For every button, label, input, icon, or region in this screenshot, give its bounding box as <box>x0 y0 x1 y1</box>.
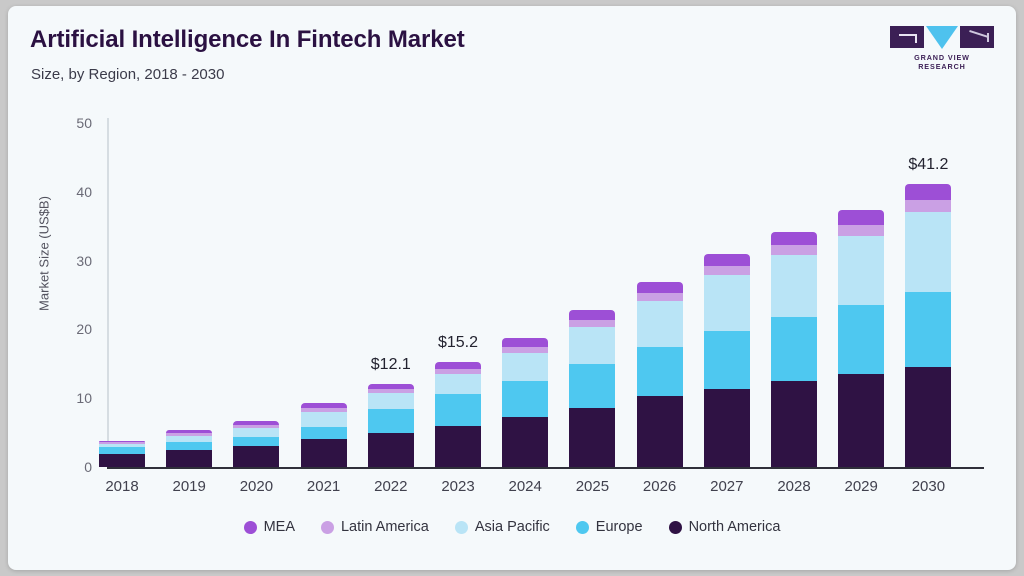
bar-2018[interactable] <box>99 6 145 467</box>
legend-swatch-icon <box>455 521 468 534</box>
bar-2026[interactable] <box>637 6 683 467</box>
bar-segment-2018-europe[interactable] <box>99 447 145 454</box>
y-axis-tick-40: 40 <box>54 184 92 200</box>
bar-segment-2028-latin-america[interactable] <box>771 245 817 255</box>
bar-segment-2018-latin-america[interactable] <box>99 442 145 443</box>
bar-segment-2021-mea[interactable] <box>301 403 347 408</box>
bar-2025[interactable] <box>569 6 615 467</box>
bar-segment-2020-north-america[interactable] <box>233 446 279 467</box>
bar-segment-2023-north-america[interactable] <box>435 426 481 467</box>
bar-segment-2027-latin-america[interactable] <box>704 266 750 275</box>
legend-item-mea[interactable]: MEA <box>244 519 295 535</box>
legend-label: MEA <box>264 519 295 535</box>
bar-segment-2022-latin-america[interactable] <box>368 389 414 393</box>
legend-label: Latin America <box>341 519 429 535</box>
bar-segment-2027-asia-pacific[interactable] <box>704 275 750 331</box>
bar-2029[interactable] <box>838 6 884 467</box>
bar-segment-2030-latin-america[interactable] <box>905 200 951 212</box>
bar-2030[interactable] <box>905 6 951 467</box>
bar-segment-2020-latin-america[interactable] <box>233 425 279 428</box>
bar-2022[interactable] <box>368 6 414 467</box>
bar-segment-2018-mea[interactable] <box>99 441 145 442</box>
bar-segment-2019-asia-pacific[interactable] <box>166 436 212 442</box>
legend-item-north-america[interactable]: North America <box>669 519 781 535</box>
bar-segment-2027-mea[interactable] <box>704 254 750 266</box>
legend-item-asia-pacific[interactable]: Asia Pacific <box>455 519 550 535</box>
legend-swatch-icon <box>244 521 257 534</box>
bar-segment-2025-latin-america[interactable] <box>569 320 615 327</box>
bar-segment-2023-mea[interactable] <box>435 362 481 369</box>
bar-segment-2028-north-america[interactable] <box>771 381 817 467</box>
x-axis-label-2023: 2023 <box>423 478 493 495</box>
legend-swatch-icon <box>669 521 682 534</box>
x-axis-label-2028: 2028 <box>759 478 829 495</box>
y-axis-title: Market Size (US$B) <box>37 174 52 334</box>
bar-chart-plot: Market Size (US$B) 010203040502018201920… <box>8 6 1016 570</box>
bar-segment-2023-latin-america[interactable] <box>435 369 481 374</box>
x-axis-label-2026: 2026 <box>625 478 695 495</box>
x-axis-line <box>107 467 984 469</box>
bar-segment-2028-mea[interactable] <box>771 232 817 245</box>
legend-label: Europe <box>596 519 643 535</box>
bar-segment-2020-mea[interactable] <box>233 421 279 425</box>
bar-segment-2029-europe[interactable] <box>838 305 884 374</box>
bar-segment-2026-latin-america[interactable] <box>637 293 683 301</box>
bar-segment-2021-asia-pacific[interactable] <box>301 412 347 427</box>
bar-value-label-2022: $12.1 <box>346 356 436 374</box>
bar-segment-2023-europe[interactable] <box>435 394 481 426</box>
bar-segment-2026-mea[interactable] <box>637 282 683 293</box>
bar-segment-2024-north-america[interactable] <box>502 417 548 467</box>
bar-2024[interactable] <box>502 6 548 467</box>
x-axis-label-2019: 2019 <box>154 478 224 495</box>
bar-segment-2022-asia-pacific[interactable] <box>368 393 414 410</box>
bar-segment-2026-north-america[interactable] <box>637 396 683 467</box>
x-axis-label-2030: 2030 <box>893 478 963 495</box>
bar-segment-2028-europe[interactable] <box>771 317 817 381</box>
bar-segment-2022-europe[interactable] <box>368 409 414 432</box>
bar-segment-2021-north-america[interactable] <box>301 439 347 467</box>
bar-segment-2030-europe[interactable] <box>905 292 951 367</box>
bar-segment-2022-north-america[interactable] <box>368 433 414 467</box>
bar-segment-2020-asia-pacific[interactable] <box>233 428 279 436</box>
chart-card: Artificial Intelligence In Fintech Marke… <box>8 6 1016 570</box>
bar-2019[interactable] <box>166 6 212 467</box>
x-axis-label-2027: 2027 <box>692 478 762 495</box>
legend-item-europe[interactable]: Europe <box>576 519 643 535</box>
y-axis-tick-20: 20 <box>54 321 92 337</box>
bar-segment-2029-mea[interactable] <box>838 210 884 224</box>
bar-2020[interactable] <box>233 6 279 467</box>
x-axis-label-2025: 2025 <box>557 478 627 495</box>
legend-swatch-icon <box>576 521 589 534</box>
bar-segment-2019-north-america[interactable] <box>166 450 212 467</box>
legend-item-latin-america[interactable]: Latin America <box>321 519 429 535</box>
bar-segment-2029-asia-pacific[interactable] <box>838 236 884 305</box>
x-axis-label-2022: 2022 <box>356 478 426 495</box>
bar-segment-2026-europe[interactable] <box>637 347 683 397</box>
x-axis-label-2020: 2020 <box>221 478 291 495</box>
bar-segment-2029-north-america[interactable] <box>838 374 884 467</box>
bar-segment-2029-latin-america[interactable] <box>838 225 884 236</box>
bar-value-label-2023: $15.2 <box>413 334 503 352</box>
bar-2023[interactable] <box>435 6 481 467</box>
bar-segment-2025-asia-pacific[interactable] <box>569 327 615 364</box>
x-axis-label-2018: 2018 <box>87 478 157 495</box>
bar-2028[interactable] <box>771 6 817 467</box>
y-axis-tick-50: 50 <box>54 115 92 131</box>
bar-segment-2021-europe[interactable] <box>301 427 347 439</box>
bar-segment-2018-north-america[interactable] <box>99 454 145 467</box>
bar-2021[interactable] <box>301 6 347 467</box>
y-axis-tick-30: 30 <box>54 253 92 269</box>
x-axis-label-2029: 2029 <box>826 478 896 495</box>
bar-segment-2023-asia-pacific[interactable] <box>435 374 481 394</box>
x-axis-label-2024: 2024 <box>490 478 560 495</box>
bar-segment-2020-europe[interactable] <box>233 437 279 447</box>
bar-segment-2026-asia-pacific[interactable] <box>637 301 683 346</box>
bar-segment-2019-latin-america[interactable] <box>166 433 212 436</box>
bar-segment-2030-asia-pacific[interactable] <box>905 212 951 291</box>
bar-segment-2030-north-america[interactable] <box>905 367 951 467</box>
x-axis-label-2021: 2021 <box>289 478 359 495</box>
bar-segment-2024-latin-america[interactable] <box>502 347 548 353</box>
chart-legend: MEALatin AmericaAsia PacificEuropeNorth … <box>8 519 1016 535</box>
bar-segment-2025-europe[interactable] <box>569 364 615 408</box>
bar-value-label-2030: $41.2 <box>883 156 973 174</box>
legend-label: Asia Pacific <box>475 519 550 535</box>
legend-label: North America <box>689 519 781 535</box>
legend-swatch-icon <box>321 521 334 534</box>
bar-segment-2024-mea[interactable] <box>502 338 548 346</box>
bar-2027[interactable] <box>704 6 750 467</box>
y-axis-tick-0: 0 <box>54 459 92 475</box>
bar-segment-2025-mea[interactable] <box>569 310 615 320</box>
bar-segment-2024-asia-pacific[interactable] <box>502 353 548 381</box>
bar-segment-2027-north-america[interactable] <box>704 389 750 467</box>
bar-segment-2030-mea[interactable] <box>905 184 951 201</box>
bar-segment-2024-europe[interactable] <box>502 381 548 417</box>
bar-segment-2019-mea[interactable] <box>166 430 212 433</box>
bar-segment-2021-latin-america[interactable] <box>301 408 347 412</box>
bar-segment-2018-asia-pacific[interactable] <box>99 444 145 447</box>
bar-segment-2027-europe[interactable] <box>704 331 750 389</box>
bar-segment-2022-mea[interactable] <box>368 384 414 389</box>
bar-segment-2019-europe[interactable] <box>166 442 212 450</box>
y-axis-tick-10: 10 <box>54 390 92 406</box>
bar-segment-2025-north-america[interactable] <box>569 408 615 467</box>
bar-segment-2028-asia-pacific[interactable] <box>771 255 817 317</box>
